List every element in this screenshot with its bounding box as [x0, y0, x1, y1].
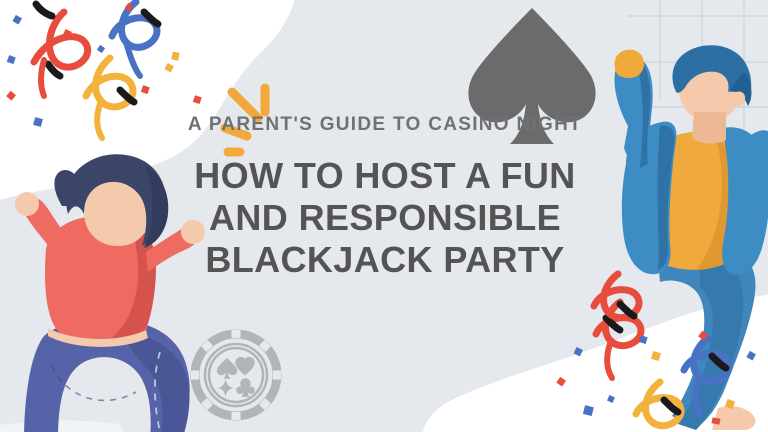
poster-canvas: A Parent's Guide to Casino Night How to …: [0, 0, 768, 432]
poster-text-block: A Parent's Guide to Casino Night How to …: [150, 112, 620, 280]
headline-line-3: Blackjack Party: [150, 239, 620, 281]
eyebrow-line-1: A Parent's Guide to: [188, 114, 422, 135]
eyebrow-line-2: Casino Night: [428, 114, 582, 135]
poster-eyebrow: A Parent's Guide to Casino Night: [150, 112, 620, 137]
headline-line-1: How to Host a Fun: [150, 155, 620, 197]
headline-line-2: and Responsible: [150, 197, 620, 239]
poster-headline: How to Host a Fun and Responsible Blackj…: [150, 155, 620, 280]
